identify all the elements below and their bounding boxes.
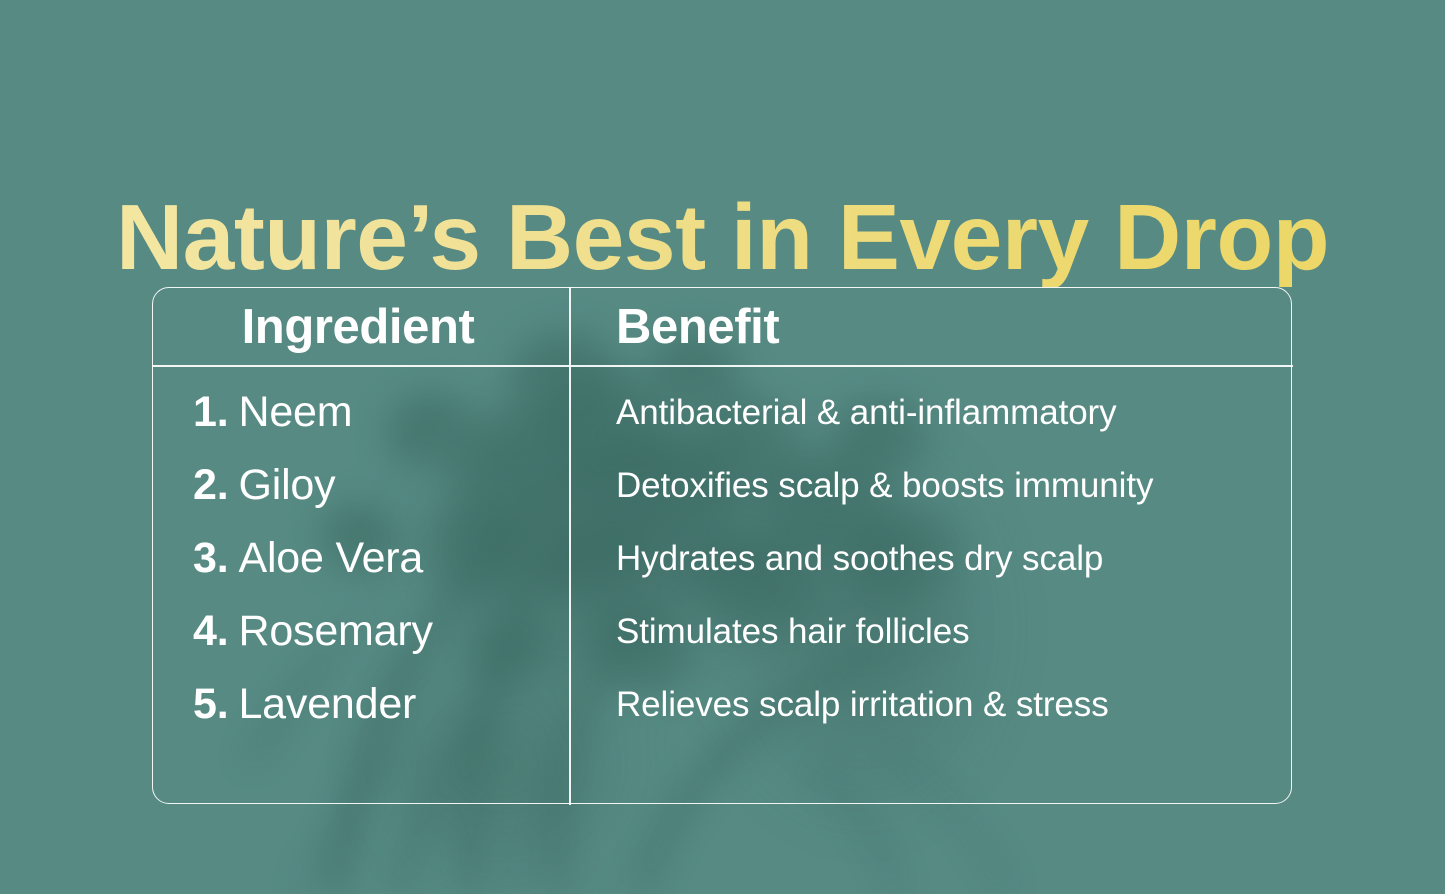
- table-header-ingredient: Ingredient: [153, 288, 569, 365]
- ingredient-number: 3.: [193, 534, 228, 583]
- ingredient-benefit-table: Ingredient Benefit 1. Neem 2. Giloy 3. A…: [152, 287, 1292, 804]
- ingredient-name: Giloy: [238, 461, 335, 510]
- table-row: 5. Lavender: [153, 668, 569, 741]
- table-row: 2. Giloy: [153, 449, 569, 522]
- benefit-column: Antibacterial & anti-inflammatory Detoxi…: [571, 367, 1293, 741]
- table-row: 1. Neem: [153, 376, 569, 449]
- poster-canvas: Nature’s Best in Every Drop Ingredient B…: [0, 0, 1445, 894]
- ingredient-number: 4.: [193, 607, 228, 656]
- ingredient-number: 2.: [193, 461, 228, 510]
- page-title: Nature’s Best in Every Drop: [0, 188, 1445, 287]
- ingredient-column: 1. Neem 2. Giloy 3. Aloe Vera 4. Rosemar…: [153, 367, 569, 741]
- ingredient-number: 1.: [193, 388, 228, 437]
- benefit-text: Relieves scalp irritation & stress: [571, 668, 1293, 741]
- table-row: 4. Rosemary: [153, 595, 569, 668]
- ingredient-name: Neem: [238, 388, 352, 437]
- benefit-text: Detoxifies scalp & boosts immunity: [571, 449, 1293, 522]
- table-row: 3. Aloe Vera: [153, 522, 569, 595]
- benefit-text: Stimulates hair follicles: [571, 595, 1293, 668]
- benefit-text: Antibacterial & anti-inflammatory: [571, 376, 1293, 449]
- table-header-benefit: Benefit: [571, 288, 779, 365]
- ingredient-name: Rosemary: [238, 607, 432, 656]
- ingredient-name: Lavender: [238, 680, 416, 729]
- ingredient-number: 5.: [193, 680, 228, 729]
- ingredient-name: Aloe Vera: [238, 534, 423, 583]
- benefit-text: Hydrates and soothes dry scalp: [571, 522, 1293, 595]
